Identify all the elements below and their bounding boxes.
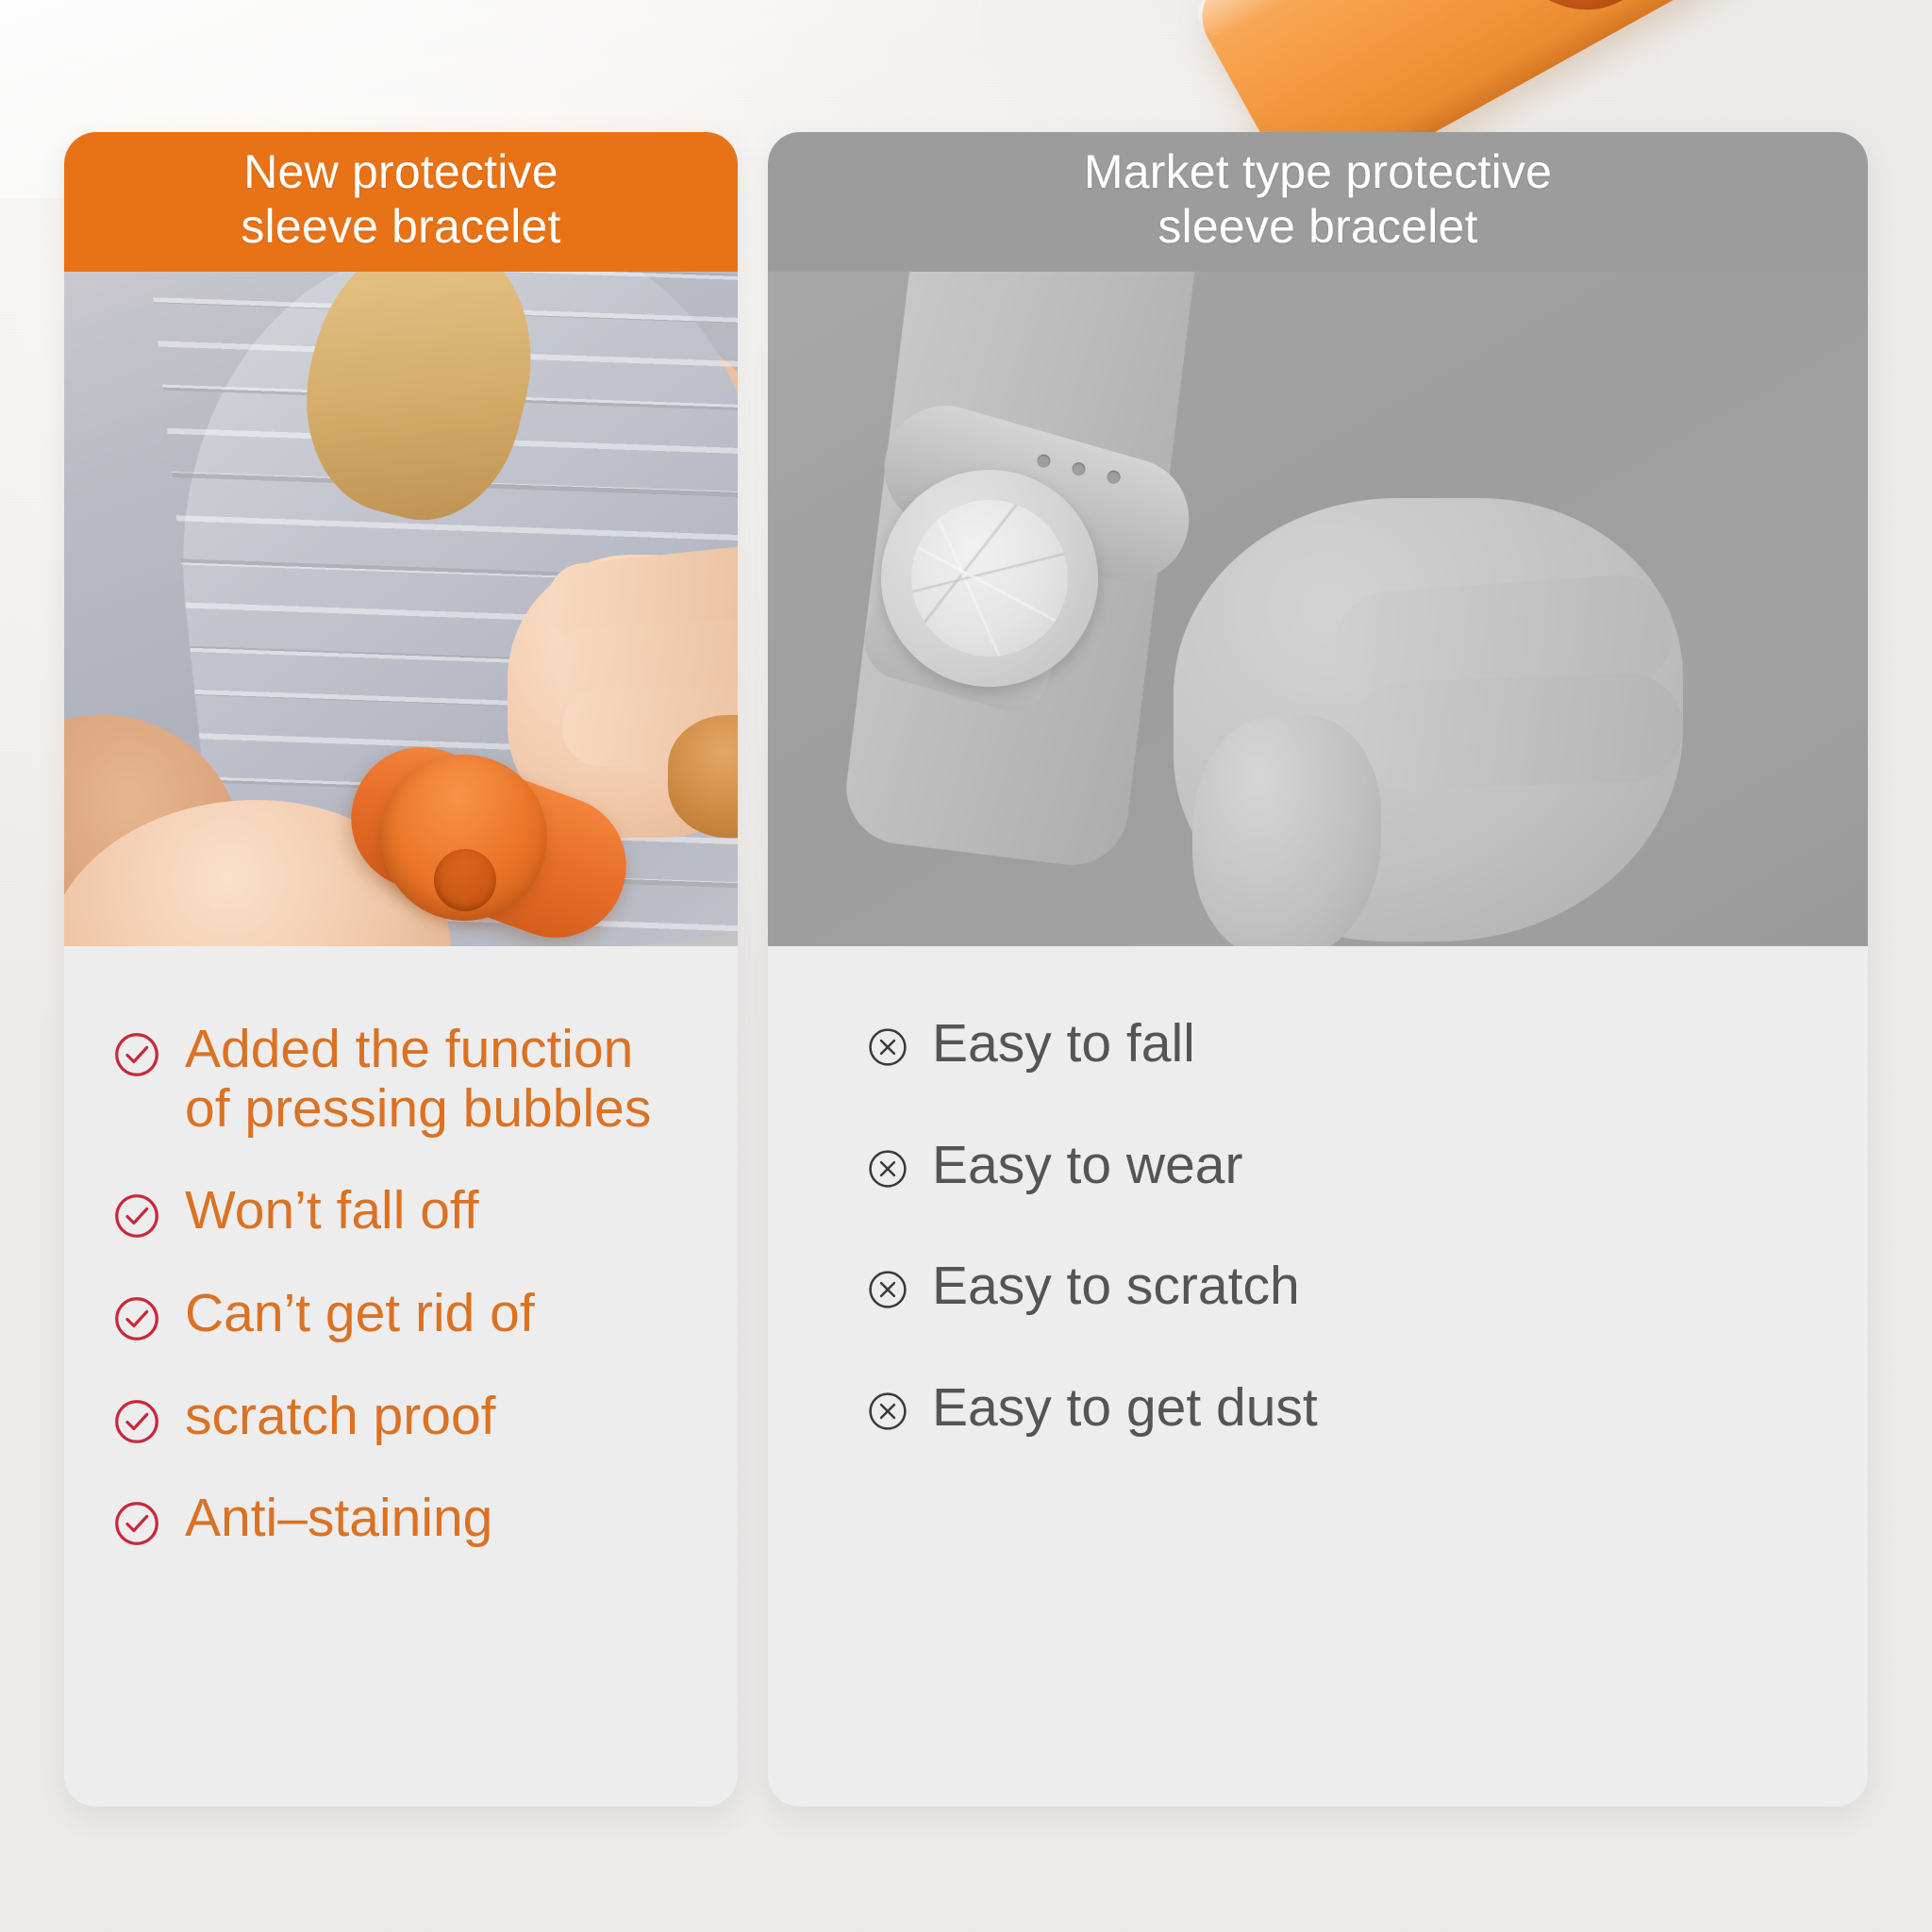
- panel-new-product[interactable]: New protective sleeve bracelet: [64, 132, 738, 1807]
- panel-left-feature-list: Added the function of pressing bubbles W…: [64, 946, 738, 1807]
- panel-left-photo: [64, 272, 738, 946]
- feature-text: Anti–staining: [185, 1489, 492, 1548]
- feature-text: Easy to scratch: [932, 1257, 1300, 1316]
- feature-text: scratch proof: [185, 1387, 495, 1446]
- panel-right-photo: [768, 272, 1868, 946]
- list-item: Easy to wear: [768, 1136, 1868, 1195]
- list-item: Easy to get dust: [768, 1378, 1868, 1438]
- list-item: Anti–staining: [64, 1489, 738, 1548]
- panel-right-title-line1: Market type protective: [1084, 144, 1552, 200]
- cross-circle-icon: [866, 1025, 909, 1069]
- list-item: Easy to fall: [768, 1014, 1868, 1074]
- cross-circle-icon: [866, 1390, 909, 1433]
- panel-right-feature-list: Easy to fall Easy to wear Easy to: [768, 946, 1868, 1807]
- feature-text: Added the function: [185, 1020, 651, 1079]
- cross-circle-icon: [866, 1147, 909, 1191]
- cross-circle-icon: [866, 1268, 909, 1311]
- feature-text: Can’t get rid of: [185, 1284, 535, 1343]
- feature-text: Easy to get dust: [932, 1378, 1318, 1438]
- list-item: Can’t get rid of: [64, 1284, 738, 1343]
- check-circle-icon: [113, 1295, 160, 1342]
- check-circle-icon: [113, 1192, 160, 1240]
- list-item: Added the function of pressing bubbles: [64, 1020, 738, 1138]
- panel-left-title-line1: New protective: [241, 144, 560, 200]
- panel-market-product[interactable]: Market type protective sleeve bracelet: [768, 132, 1868, 1807]
- panel-right-title-line2: sleeve bracelet: [1084, 199, 1552, 255]
- list-item: scratch proof: [64, 1387, 738, 1446]
- check-circle-icon: [113, 1500, 160, 1547]
- check-circle-icon: [113, 1031, 160, 1078]
- panel-left-title-line2: sleeve bracelet: [241, 199, 560, 255]
- panel-right-header: Market type protective sleeve bracelet: [768, 132, 1868, 272]
- list-item: Won’t fall off: [64, 1181, 738, 1241]
- feature-text: Easy to wear: [932, 1136, 1242, 1195]
- panel-left-header: New protective sleeve bracelet: [64, 132, 738, 272]
- feature-text: of pressing bubbles: [185, 1079, 651, 1139]
- scratch-marks-icon: [911, 500, 1068, 657]
- list-item: Easy to scratch: [768, 1257, 1868, 1316]
- check-circle-icon: [113, 1398, 160, 1445]
- feature-text: Won’t fall off: [185, 1181, 479, 1241]
- feature-text: Easy to fall: [932, 1014, 1195, 1074]
